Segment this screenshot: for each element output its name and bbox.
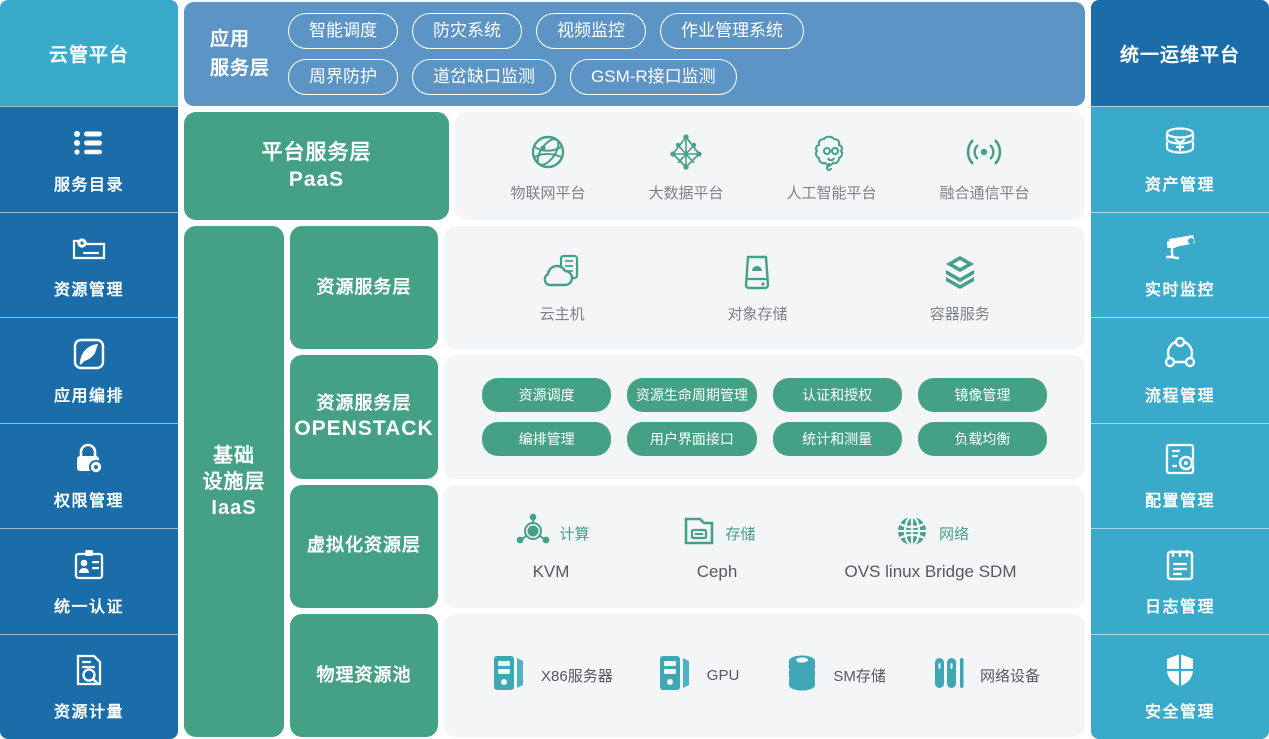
virtualization-item-storage[interactable]: 存储 Ceph bbox=[679, 511, 756, 582]
sidebar-item-label: 安全管理 bbox=[1145, 698, 1215, 722]
physical-item-name: 网络设备 bbox=[980, 665, 1040, 686]
app-pill[interactable]: GSM-R接口监测 bbox=[570, 59, 737, 95]
sidebar-item-label: 流程管理 bbox=[1145, 382, 1215, 406]
ai-brain-icon bbox=[809, 130, 853, 174]
feather-icon bbox=[70, 335, 108, 373]
coins-database-icon bbox=[1161, 124, 1199, 162]
sidebar-item-label: 服务目录 bbox=[54, 171, 124, 195]
resource-service-panel: 云主机 对象存储 bbox=[444, 226, 1085, 349]
left-sidebar: 云管平台 服务目录 资源管理 bbox=[0, 0, 178, 739]
physical-item-sm-storage[interactable]: SM存储 bbox=[781, 650, 886, 701]
sidebar-item-label: 统一认证 bbox=[54, 593, 124, 617]
virtualization-item-top: 网络 bbox=[892, 511, 969, 556]
iaas-line3: IaaS bbox=[203, 495, 266, 521]
object-storage-icon bbox=[735, 251, 779, 295]
app-pill[interactable]: 周界防护 bbox=[288, 59, 398, 95]
virtualization-panel: 计算 KVM bbox=[444, 485, 1085, 608]
server-tower-icon bbox=[489, 650, 531, 701]
lock-gear-icon bbox=[70, 440, 108, 478]
sidebar-item-log-management[interactable]: 日志管理 bbox=[1091, 528, 1269, 634]
document-gear-icon bbox=[1161, 440, 1199, 478]
sidebar-item-realtime-monitoring[interactable]: 实时监控 bbox=[1091, 212, 1269, 318]
iaas-line1: 基础 bbox=[203, 443, 266, 469]
paas-panel: 物联网平台 bbox=[455, 112, 1085, 220]
virtualization-item-tag: 存储 bbox=[726, 523, 756, 544]
virtualization-item-tag: 计算 bbox=[560, 523, 590, 544]
sidebar-item-service-catalog[interactable]: 服务目录 bbox=[0, 106, 178, 212]
physical-item-name: SM存储 bbox=[833, 665, 886, 686]
compute-node-icon bbox=[513, 511, 553, 556]
sidebar-item-app-orchestration[interactable]: 应用编排 bbox=[0, 317, 178, 423]
paas-item-iot[interactable]: 物联网平台 bbox=[510, 130, 585, 203]
sidebar-item-resource-metering[interactable]: 资源计量 bbox=[0, 634, 178, 739]
app-pill[interactable]: 视频监控 bbox=[536, 13, 646, 49]
right-sidebar-header: 统一运维平台 bbox=[1091, 0, 1269, 106]
right-sidebar: 统一运维平台 资产管理 bbox=[1091, 0, 1269, 739]
disk-stack-icon bbox=[781, 650, 823, 701]
openstack-tag[interactable]: 负载均衡 bbox=[918, 422, 1047, 456]
sidebar-item-process-management[interactable]: 流程管理 bbox=[1091, 317, 1269, 423]
paas-row: 平台服务层 PaaS 物联网平台 bbox=[184, 112, 1085, 220]
physical-item-gpu[interactable]: GPU bbox=[655, 650, 740, 701]
sidebar-item-unified-auth[interactable]: 统一认证 bbox=[0, 528, 178, 634]
openstack-tag-grid: 资源调度 资源生命周期管理 认证和授权 镜像管理 编排管理 用户界面接口 统计和… bbox=[468, 378, 1061, 456]
iaas-line2: 设施层 bbox=[203, 469, 266, 495]
openstack-label-line1: 资源服务层 bbox=[294, 392, 433, 415]
virtualization-item-top: 计算 bbox=[513, 511, 590, 556]
application-service-layer: 应用 服务层 智能调度 防灾系统 视频监控 作业管理系统 周界防护 道岔缺口监测… bbox=[184, 2, 1085, 106]
openstack-tag[interactable]: 镜像管理 bbox=[918, 378, 1047, 412]
sidebar-item-permission-management[interactable]: 权限管理 bbox=[0, 423, 178, 529]
paas-item-ai[interactable]: 人工智能平台 bbox=[786, 130, 876, 203]
virtualization-item-name: OVS linux Bridge SDM bbox=[845, 562, 1017, 582]
resource-item-container-service[interactable]: 容器服务 bbox=[930, 251, 990, 324]
resource-item-caption: 容器服务 bbox=[930, 303, 990, 324]
sidebar-item-label: 资源计量 bbox=[54, 698, 124, 722]
sidebar-item-label: 日志管理 bbox=[1145, 593, 1215, 617]
physical-item-name: GPU bbox=[707, 667, 740, 684]
openstack-row: 资源服务层 OPENSTACK 资源调度 资源生命周期管理 认证和授权 镜像管理 bbox=[290, 355, 1085, 478]
paas-item-caption: 融合通信平台 bbox=[939, 182, 1029, 203]
left-sidebar-header: 云管平台 bbox=[0, 0, 178, 106]
paas-item-caption: 物联网平台 bbox=[510, 182, 585, 203]
resource-item-cloud-host[interactable]: 云主机 bbox=[539, 251, 585, 324]
openstack-tag[interactable]: 资源调度 bbox=[482, 378, 611, 412]
sidebar-item-label: 资源管理 bbox=[54, 276, 124, 300]
architecture-diagram: 云管平台 服务目录 资源管理 bbox=[0, 0, 1269, 739]
document-search-icon bbox=[70, 651, 108, 689]
application-pill-row: 周界防护 道岔缺口监测 GSM-R接口监测 bbox=[288, 59, 1071, 95]
app-pill[interactable]: 智能调度 bbox=[288, 13, 398, 49]
virtualization-item-network[interactable]: 网络 OVS linux Bridge SDM bbox=[845, 511, 1017, 582]
resource-item-caption: 云主机 bbox=[540, 303, 585, 324]
physical-resource-panel: X86服务器 bbox=[444, 614, 1085, 737]
folder-gear-icon bbox=[70, 229, 108, 267]
resource-service-label: 资源服务层 bbox=[290, 226, 438, 349]
network-device-icon bbox=[928, 650, 970, 701]
container-stack-icon bbox=[938, 251, 982, 295]
paas-item-caption: 人工智能平台 bbox=[786, 182, 876, 203]
application-pill-grid: 智能调度 防灾系统 视频监控 作业管理系统 周界防护 道岔缺口监测 GSM-R接… bbox=[288, 13, 1071, 96]
sidebar-item-label: 实时监控 bbox=[1145, 276, 1215, 300]
openstack-panel: 资源调度 资源生命周期管理 认证和授权 镜像管理 编排管理 用户界面接口 统计和… bbox=[444, 355, 1085, 478]
application-pill-row: 智能调度 防灾系统 视频监控 作业管理系统 bbox=[288, 13, 1071, 49]
paas-item-caption: 大数据平台 bbox=[648, 182, 723, 203]
paas-label-line1: 平台服务层 bbox=[262, 139, 372, 166]
cctv-camera-icon bbox=[1161, 229, 1199, 267]
iot-globe-icon bbox=[526, 130, 570, 174]
iaas-block: 基础 设施层 IaaS 资源服务层 bbox=[184, 226, 1085, 737]
cloud-server-icon bbox=[539, 251, 585, 295]
network-globe-icon bbox=[892, 511, 932, 556]
resource-service-row: 资源服务层 云主机 bbox=[290, 226, 1085, 349]
app-pill[interactable]: 道岔缺口监测 bbox=[412, 59, 556, 95]
openstack-tag-row: 资源调度 资源生命周期管理 认证和授权 镜像管理 bbox=[482, 378, 1047, 412]
sidebar-item-security-management[interactable]: 安全管理 bbox=[1091, 634, 1269, 739]
openstack-label-line2: OPENSTACK bbox=[294, 415, 433, 442]
openstack-tag[interactable]: 认证和授权 bbox=[773, 378, 902, 412]
paas-item-bigdata[interactable]: 大数据平台 bbox=[648, 130, 723, 203]
paas-label-line2: PaaS bbox=[262, 166, 372, 193]
paas-item-comms[interactable]: 融合通信平台 bbox=[939, 130, 1029, 203]
paas-label-box: 平台服务层 PaaS bbox=[184, 112, 449, 220]
sidebar-item-label: 资产管理 bbox=[1145, 171, 1215, 195]
shield-icon bbox=[1161, 651, 1199, 689]
sidebar-item-config-management[interactable]: 配置管理 bbox=[1091, 423, 1269, 529]
sidebar-item-label: 应用编排 bbox=[54, 382, 124, 406]
gpu-tower-icon bbox=[655, 650, 697, 701]
virtualization-item-compute[interactable]: 计算 KVM bbox=[513, 511, 590, 582]
bigdata-network-icon bbox=[664, 130, 708, 174]
storage-folder-icon bbox=[679, 511, 719, 556]
virtualization-item-name: KVM bbox=[533, 562, 570, 582]
physical-item-x86[interactable]: X86服务器 bbox=[489, 650, 613, 701]
virtualization-item-top: 存储 bbox=[679, 511, 756, 556]
openstack-label: 资源服务层 OPENSTACK bbox=[290, 355, 438, 478]
sidebar-item-asset-management[interactable]: 资产管理 bbox=[1091, 106, 1269, 212]
physical-resource-row: 物理资源池 bbox=[290, 614, 1085, 737]
openstack-tag-row: 编排管理 用户界面接口 统计和测量 负载均衡 bbox=[482, 422, 1047, 456]
physical-item-network-device[interactable]: 网络设备 bbox=[928, 650, 1040, 701]
resource-item-object-storage[interactable]: 对象存储 bbox=[727, 251, 787, 324]
app-pill[interactable]: 防灾系统 bbox=[412, 13, 522, 49]
comms-signal-icon bbox=[962, 130, 1006, 174]
virtualization-row: 虚拟化资源层 bbox=[290, 485, 1085, 608]
sidebar-item-label: 权限管理 bbox=[54, 487, 124, 511]
iaas-vertical-bar: 基础 设施层 IaaS bbox=[184, 226, 284, 737]
id-badge-icon bbox=[70, 546, 108, 584]
openstack-tag[interactable]: 用户界面接口 bbox=[627, 422, 756, 456]
clipboard-lines-icon bbox=[1161, 546, 1199, 584]
physical-item-name: X86服务器 bbox=[541, 665, 613, 686]
app-pill[interactable]: 作业管理系统 bbox=[660, 13, 804, 49]
sidebar-item-resource-management[interactable]: 资源管理 bbox=[0, 212, 178, 318]
openstack-tag[interactable]: 资源生命周期管理 bbox=[627, 378, 756, 412]
center-stack: 应用 服务层 智能调度 防灾系统 视频监控 作业管理系统 周界防护 道岔缺口监测… bbox=[184, 0, 1085, 739]
application-service-layer-title: 应用 服务层 bbox=[210, 25, 270, 84]
openstack-tag[interactable]: 编排管理 bbox=[482, 422, 611, 456]
title-line-2: 服务层 bbox=[210, 54, 270, 83]
workflow-nodes-icon bbox=[1161, 335, 1199, 373]
title-line-1: 应用 bbox=[210, 25, 270, 54]
sidebar-item-label: 配置管理 bbox=[1145, 487, 1215, 511]
virtualization-item-name: Ceph bbox=[697, 562, 738, 582]
openstack-tag[interactable]: 统计和测量 bbox=[773, 422, 902, 456]
virtualization-label: 虚拟化资源层 bbox=[290, 485, 438, 608]
resource-item-caption: 对象存储 bbox=[727, 303, 787, 324]
physical-resource-label: 物理资源池 bbox=[290, 614, 438, 737]
virtualization-item-tag: 网络 bbox=[939, 523, 969, 544]
list-icon bbox=[70, 124, 108, 162]
